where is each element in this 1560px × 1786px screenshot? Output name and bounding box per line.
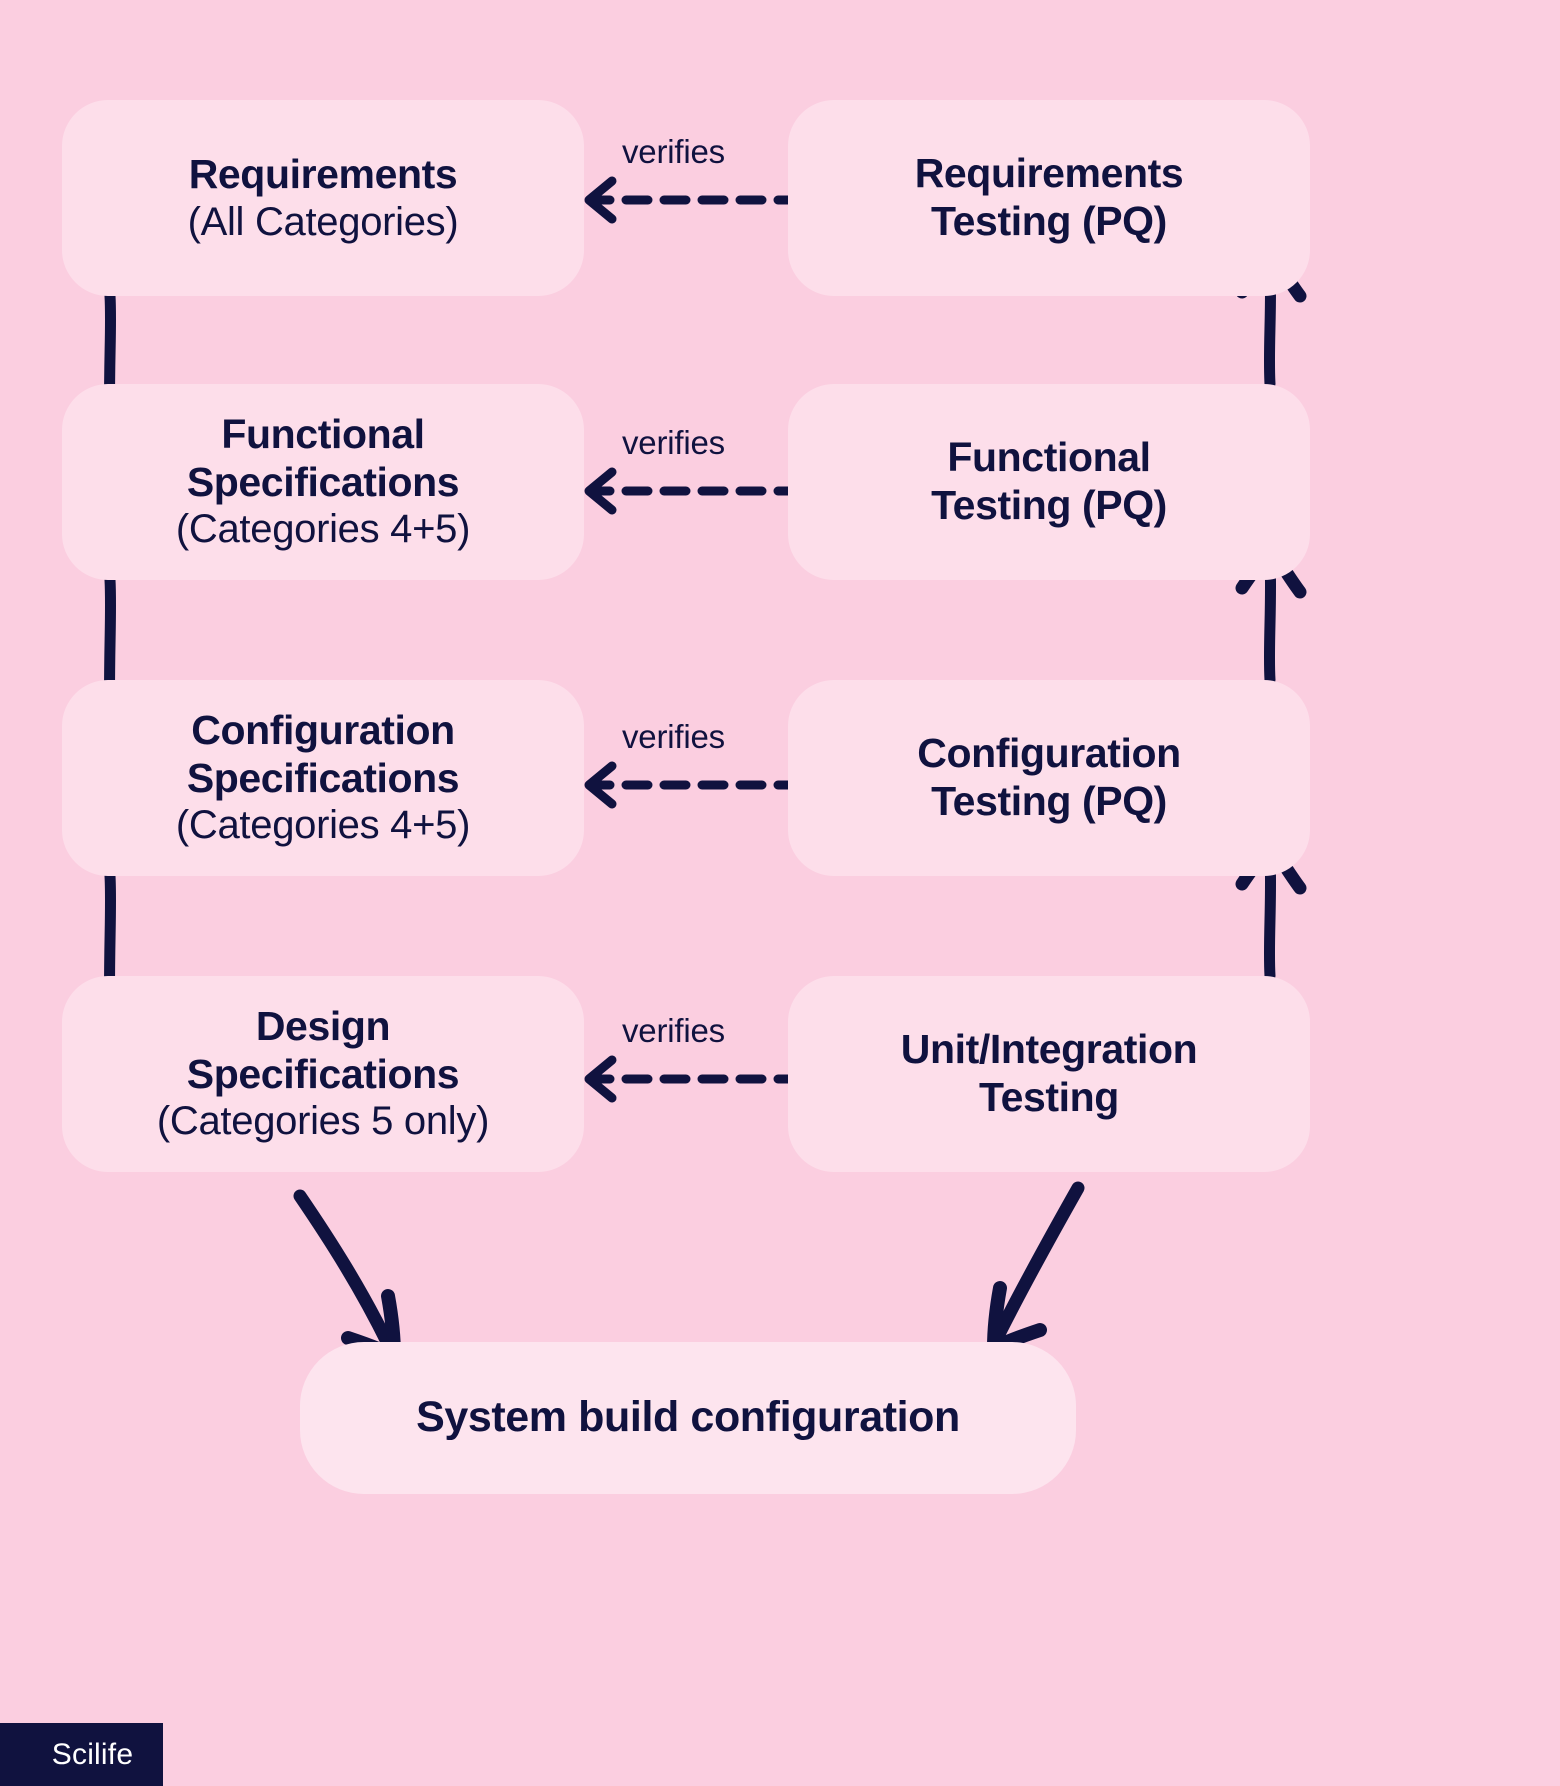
node-configuration-testing[interactable]: Configuration Testing (PQ) [788,680,1310,876]
node-configuration-title-line2: Specifications [187,755,459,801]
scilife-logo-text: Scilife [30,1738,133,1772]
node-requirements-testing-line1: Requirements [915,150,1184,196]
node-design-title-line1: Design [256,1003,390,1049]
node-functional-testing[interactable]: Functional Testing (PQ) [788,384,1310,580]
node-configuration-specifications[interactable]: Configuration Specifications (Categories… [62,680,584,876]
node-configuration-title-line1: Configuration [191,707,455,753]
label-verifies-2: verifies [622,424,725,462]
node-requirements-subtitle: (All Categories) [188,199,459,245]
label-verifies-3: verifies [622,718,725,756]
node-requirements-testing[interactable]: Requirements Testing (PQ) [788,100,1310,296]
node-requirements-title: Requirements [189,151,458,197]
node-functional-testing-line1: Functional [947,434,1150,480]
dashed-arrow-requirements-testing-verifies-requirements [589,181,800,219]
node-system-build-configuration[interactable]: System build configuration [300,1342,1076,1494]
dashed-arrow-configuration-testing-verifies-configuration-specs [589,766,800,804]
node-configuration-testing-line2: Testing (PQ) [931,778,1167,824]
node-functional-testing-line2: Testing (PQ) [931,482,1167,528]
node-requirements[interactable]: Requirements (All Categories) [62,100,584,296]
node-unit-testing-line1: Unit/Integration [901,1026,1198,1072]
node-design-title-line2: Specifications [187,1051,459,1097]
node-design-subtitle: (Categories 5 only) [157,1098,489,1144]
node-system-build-title: System build configuration [416,1393,960,1441]
label-verifies-4: verifies [622,1012,725,1050]
dashed-arrow-functional-testing-verifies-functional-specs [589,472,800,510]
scilife-logo: Scilife [0,1723,163,1786]
node-requirements-testing-line2: Testing (PQ) [931,198,1167,244]
dashed-arrow-unit-testing-verifies-design-specs [589,1060,800,1098]
node-design-specifications[interactable]: Design Specifications (Categories 5 only… [62,976,584,1172]
node-functional-title-line1: Functional [221,411,424,457]
node-unit-integration-testing[interactable]: Unit/Integration Testing [788,976,1310,1172]
node-configuration-subtitle: (Categories 4+5) [176,802,470,848]
node-functional-specifications[interactable]: Functional Specifications (Categories 4+… [62,384,584,580]
node-functional-subtitle: (Categories 4+5) [176,506,470,552]
node-functional-title-line2: Specifications [187,459,459,505]
diagram-canvas: Requirements (All Categories) Functional… [0,0,1560,1786]
arrow-unit-testing-to-system-build [994,1188,1078,1348]
node-unit-testing-line2: Testing [979,1074,1119,1120]
arrow-design-specs-to-system-build [300,1196,394,1356]
node-configuration-testing-line1: Configuration [917,730,1181,776]
label-verifies-1: verifies [622,133,725,171]
